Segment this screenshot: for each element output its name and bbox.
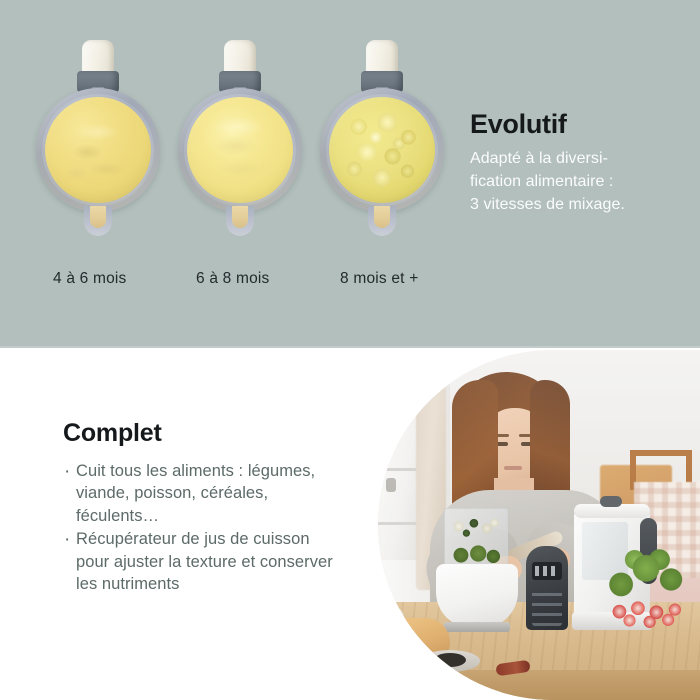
spout-juice [90,206,106,228]
top-section-evolutif: 4 à 6 mois 6 à 8 mois 8 mois et + Evolut… [0,0,700,348]
bowl-body [320,88,444,212]
photo-light-overlay [378,350,700,610]
blender-bowl-2 [170,38,310,268]
bowl-shading [320,88,444,212]
age-labels-row: 4 à 6 mois 6 à 8 mois 8 mois et + [18,270,458,296]
section-divider [0,346,700,348]
evolutif-heading: Evolutif [470,110,690,138]
evolutif-line-1: Adapté à la diversi- [470,148,690,171]
evolutif-line-3: 3 vitesses de mixage. [470,194,690,217]
spout-juice [232,206,248,228]
blender-bowl-3 [312,38,452,268]
photo-dark-object [382,638,412,660]
age-label-bowl-2: 6 à 8 mois [196,270,270,288]
list-item: Cuit tous les aliments : légumes, viande… [63,460,333,527]
list-item: Récupérateur de jus de cuisson pour ajus… [63,528,333,595]
bowl-body [178,88,302,212]
evolutif-text-block: Evolutif Adapté à la diversi- fication a… [470,110,690,217]
bowl-shading [178,88,302,212]
spout-juice [374,206,390,228]
bowl-spout [226,206,254,236]
age-label-bowl-1: 4 à 6 mois [53,270,127,288]
bowl-spout [84,206,112,236]
bowl-spout [368,206,396,236]
product-feature-page: 4 à 6 mois 6 à 8 mois 8 mois et + Evolut… [0,0,700,700]
complet-heading: Complet [63,419,333,448]
age-label-bowl-3: 8 mois et + [340,270,418,288]
bowls-row [18,38,458,268]
photo-appliance-base [444,622,510,632]
complet-text-block: Complet Cuit tous les aliments : légumes… [63,419,333,597]
bowl-shading [36,88,160,212]
evolutif-description: Adapté à la diversi- fication alimentair… [470,148,690,216]
photo-round-lid-center [434,653,466,667]
photo-counter-edge [378,670,700,700]
lifestyle-photo [378,350,700,700]
evolutif-line-2: fication alimentaire : [470,171,690,194]
complet-feature-list: Cuit tous les aliments : légumes, viande… [63,460,333,596]
bowl-body [36,88,160,212]
blender-bowl-1 [28,38,168,268]
